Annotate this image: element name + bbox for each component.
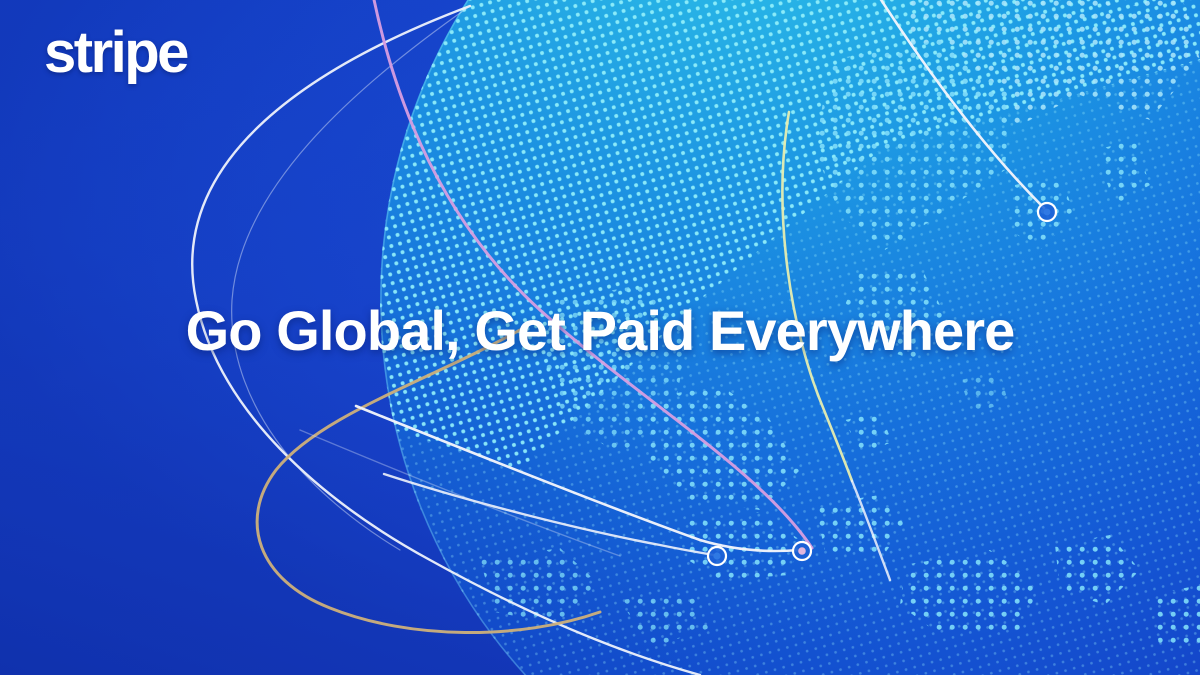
- arc-white-ne: [876, 0, 1044, 208]
- arc-white-mid: [356, 406, 799, 551]
- node-northeast: [1038, 203, 1056, 221]
- arc-white-loop-inner: [232, 6, 470, 550]
- arc-white-left: [384, 474, 714, 555]
- page-title: Go Global, Get Paid Everywhere: [0, 303, 1200, 359]
- arc-gold: [257, 330, 600, 633]
- arc-pink: [372, 0, 812, 548]
- arc-yellow-tail: [852, 481, 890, 580]
- node-markers: [708, 203, 1056, 565]
- node-south: [708, 547, 726, 565]
- node-southeast: [793, 542, 811, 560]
- arc-yellow: [783, 112, 852, 481]
- hero-banner: stripe Go Global, Get Paid Everywhere: [0, 0, 1200, 675]
- stripe-logo[interactable]: stripe: [44, 24, 187, 82]
